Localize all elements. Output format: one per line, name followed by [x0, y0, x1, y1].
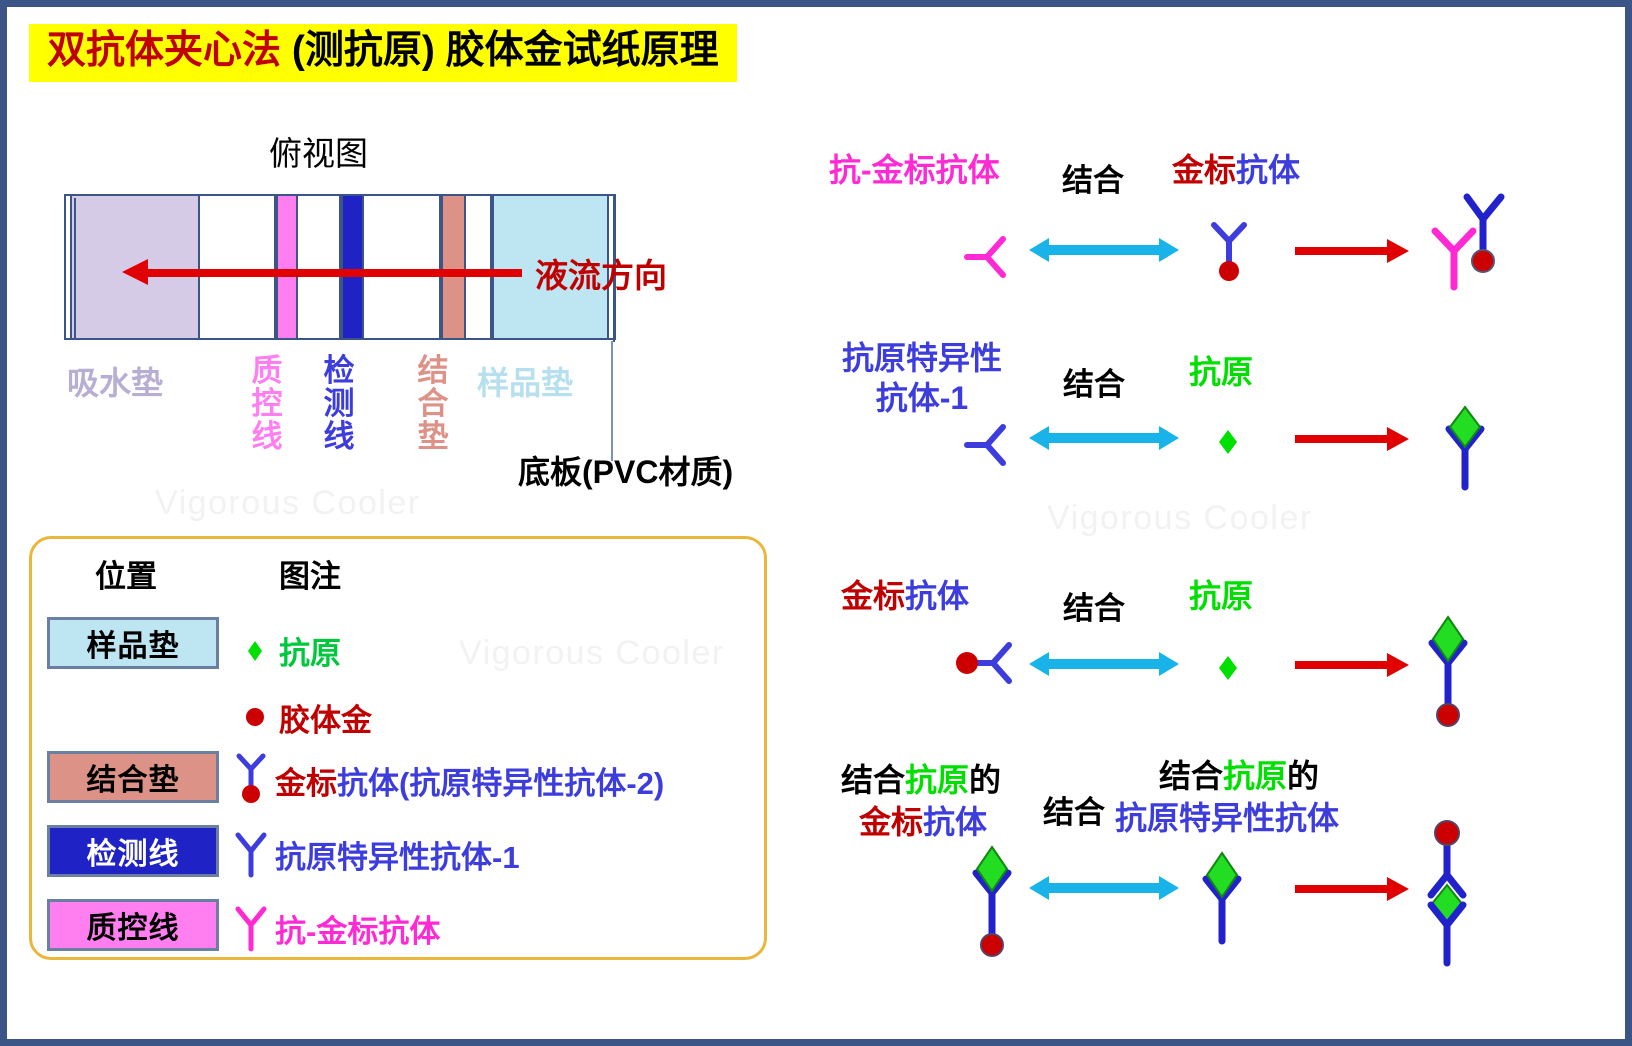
green-diamond-icon [1205, 645, 1251, 691]
strip-left-inner-edge [74, 198, 76, 340]
legend-label-gold-antibody: 金标抗体(抗原特异性抗体-2) [275, 758, 664, 803]
rx3-left-label: 金标抗体 [841, 579, 969, 615]
rx3-product-arrow-icon [1295, 661, 1409, 669]
label-sample-pad: 样品垫 [477, 367, 573, 401]
rx1-bidirectional-arrow-icon [1029, 245, 1179, 255]
title-red-part: 双抗体夹心法 [47, 29, 281, 72]
rx4-right-label-line1: 结合抗原的 [1159, 759, 1319, 795]
legend-chip-sample-pad: 样品垫 [47, 617, 219, 669]
rx2-left-label-line1: 抗原特异性 [827, 341, 1017, 377]
rx1-right-label-blue: 抗体 [1236, 152, 1300, 188]
rx3-right-label: 抗原 [1189, 579, 1253, 615]
legend-header-symbol: 图注 [279, 551, 341, 596]
antigen-bound-gold-antibody-icon [949, 835, 1035, 965]
rx1-join-label: 结合 [1062, 155, 1124, 200]
legend-chip-test-line: 检测线 [47, 825, 219, 877]
sandwich-complex-icon [1399, 813, 1495, 993]
rx2-left-label-line2: 抗体-1 [827, 381, 1017, 417]
top-view-label: 俯视图 [269, 127, 368, 175]
backing-leader-line [611, 341, 613, 461]
label-test-line: 检测线 [321, 355, 357, 454]
gold-labeled-antibody-icon [229, 751, 273, 813]
legend-chip-conjugate-pad: 结合垫 [47, 751, 219, 803]
rx4-l1-b: 抗原 [905, 762, 969, 798]
anti-gold-antibody-icon [229, 901, 273, 957]
page-title: 双抗体夹心法 (测抗原) 胶体金试纸原理 [29, 24, 737, 82]
rx4-right-label-line2: 抗原特异性抗体 [1115, 801, 1339, 837]
rx4-r1-c: 的 [1287, 758, 1319, 794]
watermark: Vigorous Cooler [155, 484, 421, 523]
rx2-join-label: 结合 [1063, 359, 1125, 404]
flow-direction-label: 液流方向 [535, 249, 667, 297]
label-control-line: 质控线 [249, 355, 285, 454]
rx4-r1-a: 结合 [1159, 758, 1223, 794]
anti-gold-antibody-bound-complex-icon [1419, 189, 1529, 301]
rx3-join-label: 结合 [1063, 583, 1125, 628]
slide-canvas: 双抗体夹心法 (测抗原) 胶体金试纸原理 Vigorous Cooler Vig… [0, 0, 1632, 1046]
legend-header-position: 位置 [95, 551, 157, 596]
rx1-product-arrow-icon [1295, 247, 1409, 255]
green-diamond-icon [1205, 419, 1251, 465]
rx1-right-label-red: 金标 [1172, 152, 1236, 188]
antibody-icon [959, 415, 1013, 475]
gold-labeled-antibody-icon [953, 631, 1023, 693]
rx4-bidirectional-arrow-icon [1029, 883, 1179, 893]
green-diamond-icon [235, 631, 275, 671]
rx3-left-label-blue: 抗体 [905, 578, 969, 614]
antibody-antigen-complex-icon [1425, 399, 1511, 499]
label-conjugate-pad: 结合垫 [415, 355, 451, 454]
rx4-l1-a: 结合 [841, 762, 905, 798]
anti-gold-antibody-icon [959, 227, 1013, 287]
title-black-part: (测抗原) 胶体金试纸原理 [281, 29, 719, 72]
rx1-right-label: 金标抗体 [1172, 153, 1300, 189]
rx3-left-label-red: 金标 [841, 578, 905, 614]
rx4-left-label-line1: 结合抗原的 [841, 763, 1001, 799]
label-absorbent-pad: 吸水垫 [67, 367, 163, 401]
gold-antibody-antigen-complex-icon [1403, 605, 1493, 735]
flow-direction-arrow-icon [122, 265, 522, 279]
watermark: Vigorous Cooler [1047, 499, 1313, 538]
antigen-bound-specific-antibody-icon [1179, 837, 1265, 953]
legend-label-antigen: 抗原 [279, 628, 341, 673]
legend-label-gold-antibody-blue: 抗体(抗原特异性抗体-2) [337, 766, 664, 801]
legend-chip-control-line: 质控线 [47, 899, 219, 951]
legend-label-gold-antibody-red: 金标 [275, 766, 337, 801]
gold-labeled-antibody-icon [1199, 215, 1259, 291]
antibody-icon [229, 827, 273, 883]
rx4-join-label: 结合 [1043, 787, 1105, 832]
rx4-product-arrow-icon [1295, 885, 1409, 893]
legend-label-anti-gold-antibody: 抗-金标抗体 [275, 906, 440, 951]
rx1-left-label: 抗-金标抗体 [829, 153, 1000, 189]
label-pvc-backing: 底板(PVC材质) [518, 447, 733, 493]
rx2-bidirectional-arrow-icon [1029, 433, 1179, 443]
rx4-r1-b: 抗原 [1223, 758, 1287, 794]
rx2-right-label: 抗原 [1189, 355, 1253, 391]
legend-label-colloidal-gold: 胶体金 [279, 695, 372, 740]
legend-panel [29, 536, 767, 960]
legend-label-specific-antibody-1: 抗原特异性抗体-1 [275, 832, 520, 877]
red-dot-icon [235, 697, 275, 737]
rx2-product-arrow-icon [1295, 435, 1409, 443]
rx4-l1-c: 的 [969, 762, 1001, 798]
rx3-bidirectional-arrow-icon [1029, 659, 1179, 669]
rx4-l2-red: 金标 [859, 804, 923, 840]
